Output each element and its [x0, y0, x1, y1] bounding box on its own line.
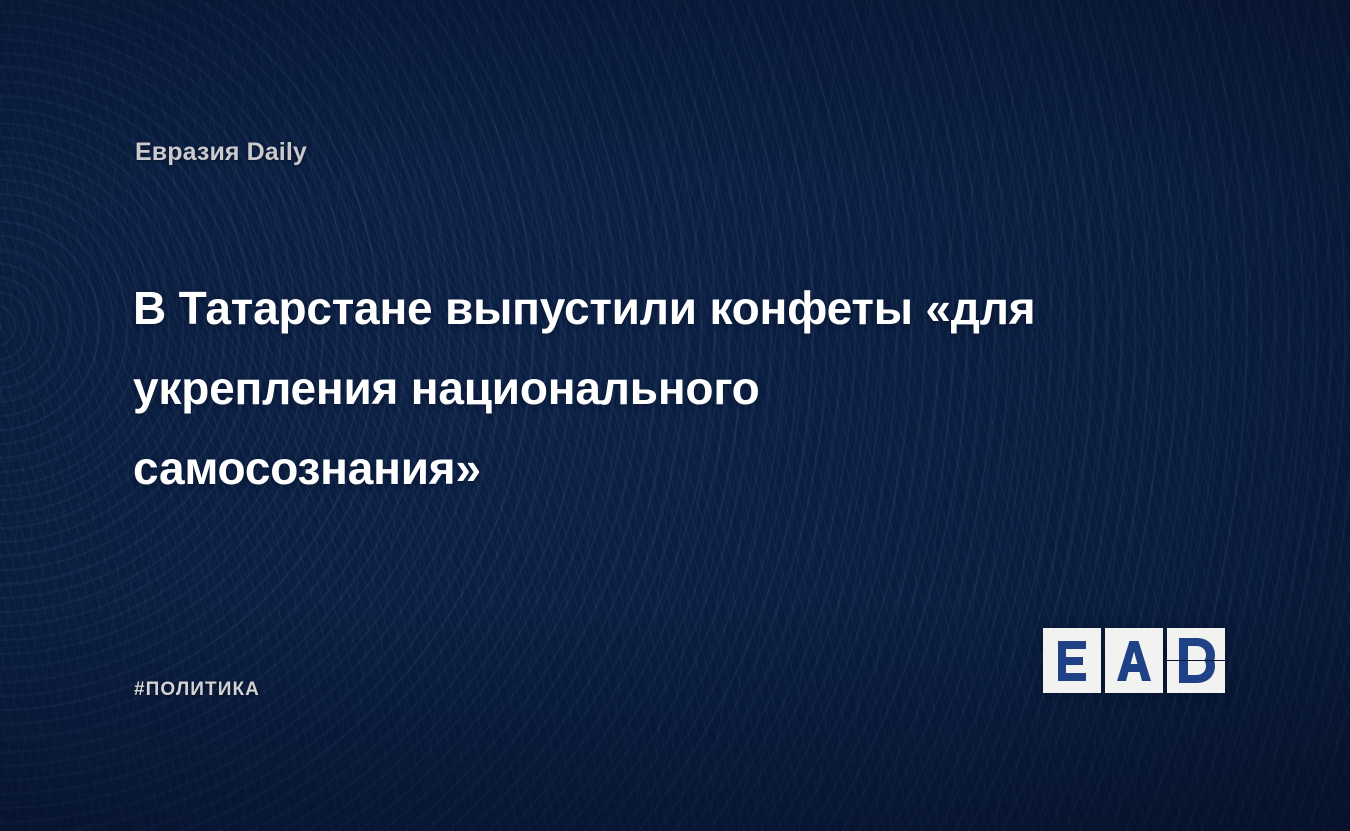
- headline-line-2: укрепления национального: [133, 348, 1223, 428]
- eadaily-logo[interactable]: [1043, 628, 1225, 693]
- news-share-card: Евразия Daily В Татарстане выпустили кон…: [0, 0, 1350, 831]
- headline: В Татарстане выпустили конфеты «для укре…: [133, 268, 1223, 508]
- rubric-tag-politics[interactable]: #ПОЛИТИКА: [134, 679, 260, 701]
- card-content: Евразия Daily В Татарстане выпустили кон…: [0, 0, 1350, 831]
- logo-tile-d-bottom: [1167, 661, 1225, 693]
- logo-tile-d: [1167, 628, 1225, 693]
- logo-tile-e: [1043, 628, 1101, 693]
- headline-line-3: самосознания»: [133, 428, 1223, 508]
- headline-line-1: В Татарстане выпустили конфеты «для: [133, 268, 1223, 348]
- logo-tile-a: [1105, 628, 1163, 693]
- site-name: Евразия Daily: [135, 138, 307, 167]
